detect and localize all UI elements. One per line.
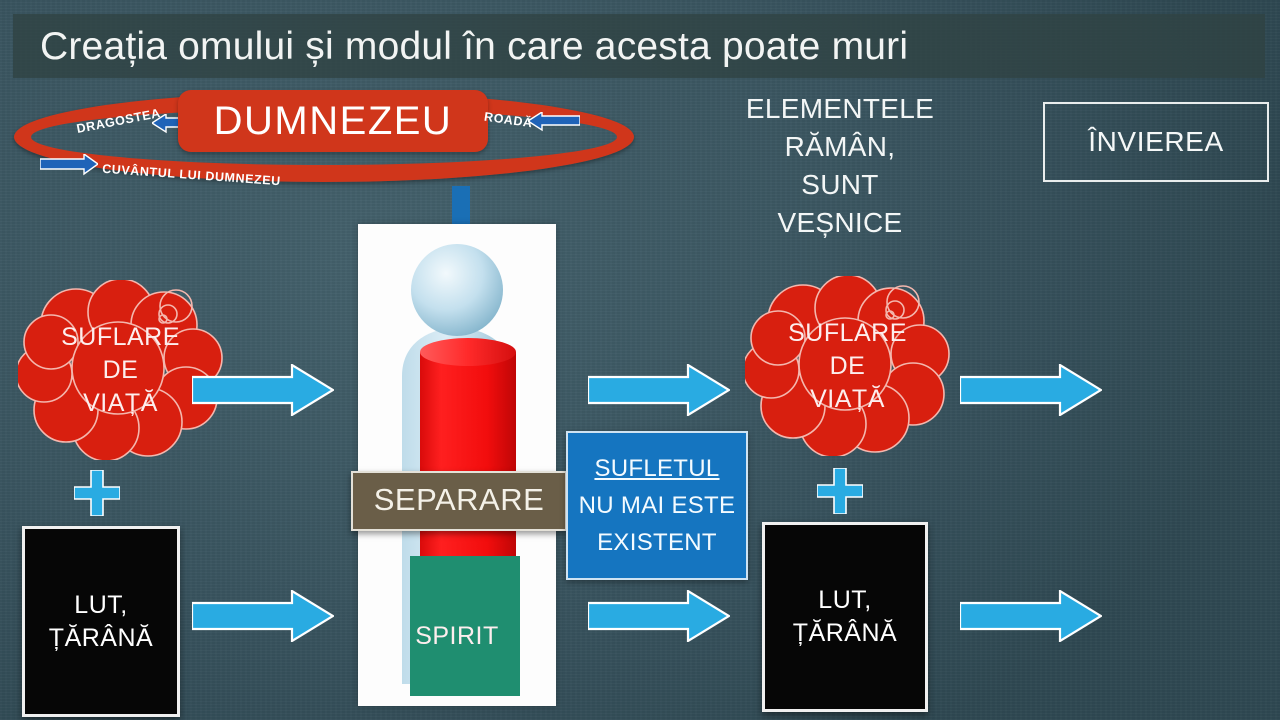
cloud-shape-icon [745, 276, 950, 456]
slide-canvas: Creația omului și modul în care acesta p… [0, 0, 1280, 720]
matter-left-text: LUT,ȚĂRÂNĂ [49, 589, 153, 655]
plus-icon-right [817, 468, 863, 514]
flow-arrow-middle-top [588, 364, 730, 416]
separation-label: SEPARARE [353, 473, 565, 527]
resurrection-label: ÎNVIEREA [1088, 126, 1224, 158]
arrow-to-roada [528, 112, 580, 132]
elements-line-3: SUNT [801, 169, 878, 200]
plus-icon-left [74, 470, 120, 516]
flow-arrow-left-bottom [192, 590, 334, 642]
resurrection-box[interactable]: ÎNVIEREA [1043, 102, 1269, 182]
elements-line-2: RĂMÂN, [785, 131, 896, 162]
elements-line-1: ELEMENTELE [746, 93, 934, 124]
matter-right-line-1: LUT, [818, 586, 871, 614]
flow-arrow-middle-bottom [588, 590, 730, 642]
flow-arrow-right-top [960, 364, 1102, 416]
human-composition-panel: SUFLET SPIRIT TRUPUL [358, 224, 556, 706]
matter-right-line-2: ȚĂRÂNĂ [793, 619, 897, 647]
flow-arrow-right-bottom [960, 590, 1102, 642]
elements-note: ELEMENTELE RĂMÂN, SUNT VEȘNICE [735, 90, 945, 242]
soul-status-line-3: EXISTENT [597, 524, 717, 561]
matter-box-left[interactable]: LUT,ȚĂRÂNĂ [22, 526, 180, 717]
spirit-label: SPIRIT [358, 622, 556, 651]
god-cycle-diagram: DUMNEZEU DRAGOSTEA ROADĂ CUVÂNTUL LUI DU… [14, 92, 639, 188]
elements-line-4: VEȘNICE [777, 207, 902, 238]
dumnezeu-label: DUMNEZEU [178, 90, 488, 152]
matter-box-right[interactable]: LUT,ȚĂRÂNĂ [762, 522, 928, 712]
dumnezeu-card[interactable]: DUMNEZEU [178, 90, 488, 152]
soul-status-line-2: NU MAI ESTE [579, 487, 736, 524]
soul-status-line-1: SUFLETUL [594, 450, 719, 487]
matter-left-line-2: ȚĂRÂNĂ [49, 624, 153, 652]
matter-right-text: LUT,ȚĂRÂNĂ [793, 584, 897, 650]
matter-left-line-1: LUT, [74, 591, 127, 619]
soul-status-box[interactable]: SUFLETUL NU MAI ESTE EXISTENT [566, 431, 748, 580]
flow-arrow-left-top [192, 364, 334, 416]
page-title: Creația omului și modul în care acesta p… [40, 20, 1040, 74]
separation-banner[interactable]: SEPARARE [351, 471, 567, 531]
breath-of-life-cloud-right: SUFLARE DE VIAȚĂ [745, 276, 950, 456]
arrow-to-cuvantul [40, 154, 98, 176]
